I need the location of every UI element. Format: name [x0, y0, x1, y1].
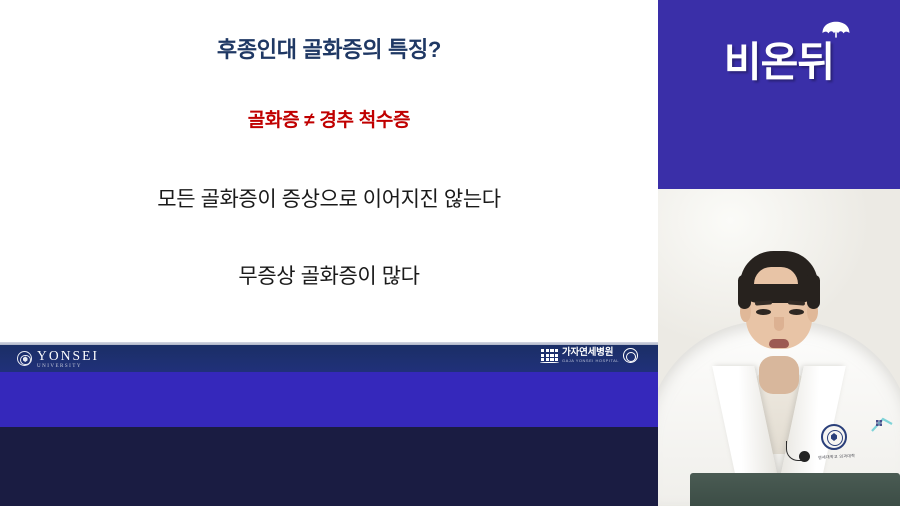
hospital-name-english: GAJA YONSEI HOSPITAL [562, 359, 619, 363]
slide-subtitle: 골화증 ≠ 경추 척수증 [0, 105, 658, 132]
brand-panel: 비온뒤 [658, 0, 900, 189]
presenter-hair-side-right [807, 275, 820, 309]
coat-hospital-emblem-icon [821, 424, 847, 450]
presenter-video[interactable]: 연세대학교 의과대학 [658, 189, 900, 506]
yonsei-seal-icon [17, 351, 32, 366]
slide-title: 후종인대 골화증의 특징? [0, 32, 658, 64]
yonsei-university-logo: YONSEI UNIVERSITY [17, 349, 99, 369]
bionwee-wordmark: 비온뒤 [658, 28, 900, 88]
presenter-eye-right [789, 309, 804, 315]
slide-footer-dark-band [0, 427, 658, 506]
yonsei-name-text: YONSEI [37, 349, 99, 363]
podium [690, 473, 900, 506]
presenter-nose [774, 317, 784, 331]
bionwee-logo: 비온뒤 [658, 0, 900, 189]
presenter-mouth [769, 339, 789, 348]
hospital-pillars-icon [541, 348, 558, 363]
gaja-yonsei-hospital-logo: 가자연세병원 GAJA YONSEI HOSPITAL [541, 348, 638, 363]
coat-shoulder-patch-icon [871, 415, 893, 437]
yonsei-wordmark: YONSEI UNIVERSITY [37, 349, 99, 369]
presentation-slide: 후종인대 골화증의 특징? 골화증 ≠ 경추 척수증 모든 골화증이 증상으로 … [0, 0, 658, 506]
slide-body-line-2: 무증상 골화증이 많다 [0, 260, 658, 290]
yonsei-subtitle-text: UNIVERSITY [37, 364, 99, 369]
presenter-eye-left [756, 309, 771, 315]
hospital-name-korean: 가자연세병원 [562, 348, 619, 358]
presenter-neck [759, 356, 799, 394]
presenter-lapel-mic [799, 451, 810, 462]
presenter-hair-side-left [738, 275, 751, 309]
slide-footer-blue-band [0, 372, 658, 427]
slide-body-line-1: 모든 골화증이 증상으로 이어지진 않는다 [0, 183, 658, 213]
hospital-wordmark: 가자연세병원 GAJA YONSEI HOSPITAL [562, 348, 619, 363]
hospital-seal-icon [623, 348, 638, 363]
video-player-stage: 후종인대 골화증의 특징? 골화증 ≠ 경추 척수증 모든 골화증이 증상으로 … [0, 0, 900, 506]
